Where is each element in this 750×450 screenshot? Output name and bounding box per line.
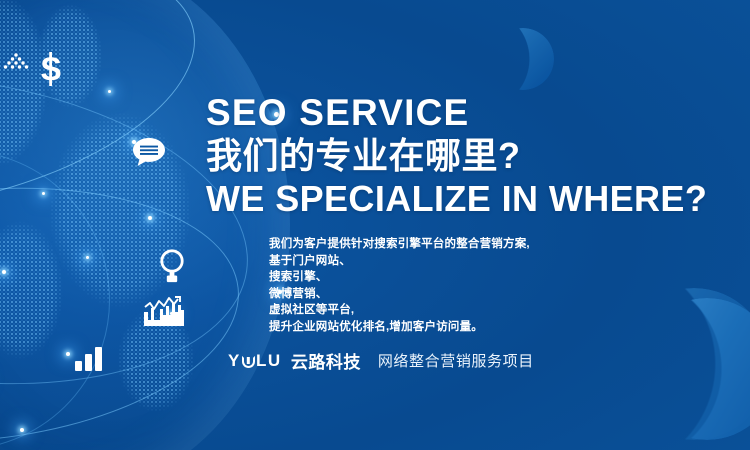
seo-service-banner: S SEO SERVICE — [0, 0, 750, 450]
headline-en-top: SEO SERVICE — [206, 92, 707, 134]
body-copy-block: 我们为客户提供针对搜索引擎平台的整合营销方案, 基于门户网站、 搜索引擎、 微博… — [269, 236, 530, 335]
crescent-bottom-front-decoration — [636, 298, 750, 440]
body-copy-line: 搜索引擎、 — [269, 269, 530, 286]
brand-row: Y LU 云路科技 网络整合营销服务项目 — [228, 348, 534, 373]
globe-node — [42, 192, 45, 195]
globe-node — [108, 90, 111, 93]
crescent-top-decoration — [492, 28, 554, 90]
search-icon — [157, 248, 187, 284]
crescent-bottom-back-decoration — [618, 288, 750, 440]
chat-bubble-icon — [132, 137, 166, 167]
headline-cn: 我们的专业在哪里? — [206, 134, 707, 178]
globe-node — [2, 270, 6, 274]
globe-node — [66, 352, 70, 356]
bar-chart-icon — [75, 347, 103, 371]
body-copy-line: 虚拟社区等平台, — [269, 302, 530, 319]
logo-text-prefix: Y — [228, 351, 241, 371]
body-copy-line: 微博营销、 — [269, 286, 530, 303]
pyramid-dots-icon — [2, 52, 30, 72]
globe-node — [148, 216, 152, 220]
yulu-logo: Y LU — [228, 351, 282, 371]
orbit-arc-1 — [0, 0, 219, 253]
body-copy-line: 我们为客户提供针对搜索引擎平台的整合营销方案, — [269, 236, 530, 253]
globe-node — [86, 256, 89, 259]
orbit-arc-4 — [0, 111, 149, 450]
brand-tagline: 网络整合营销服务项目 — [378, 350, 534, 371]
headline-en-bottom: WE SPECIALIZE IN WHERE? — [206, 178, 707, 220]
body-copy-line: 提升企业网站优化排名,增加客户访问量。 — [269, 319, 530, 336]
logo-mark-glyph-icon — [242, 356, 255, 368]
headline-block: SEO SERVICE 我们的专业在哪里? WE SPECIALIZE IN W… — [206, 92, 707, 220]
globe-node — [20, 428, 24, 432]
dollar-sign-icon: S — [38, 51, 64, 87]
body-copy-line: 基于门户网站、 — [269, 253, 530, 270]
bar-chart-city-icon — [144, 294, 184, 326]
brand-name-cn: 云路科技 — [291, 348, 361, 373]
logo-text-suffix: LU — [256, 351, 282, 371]
